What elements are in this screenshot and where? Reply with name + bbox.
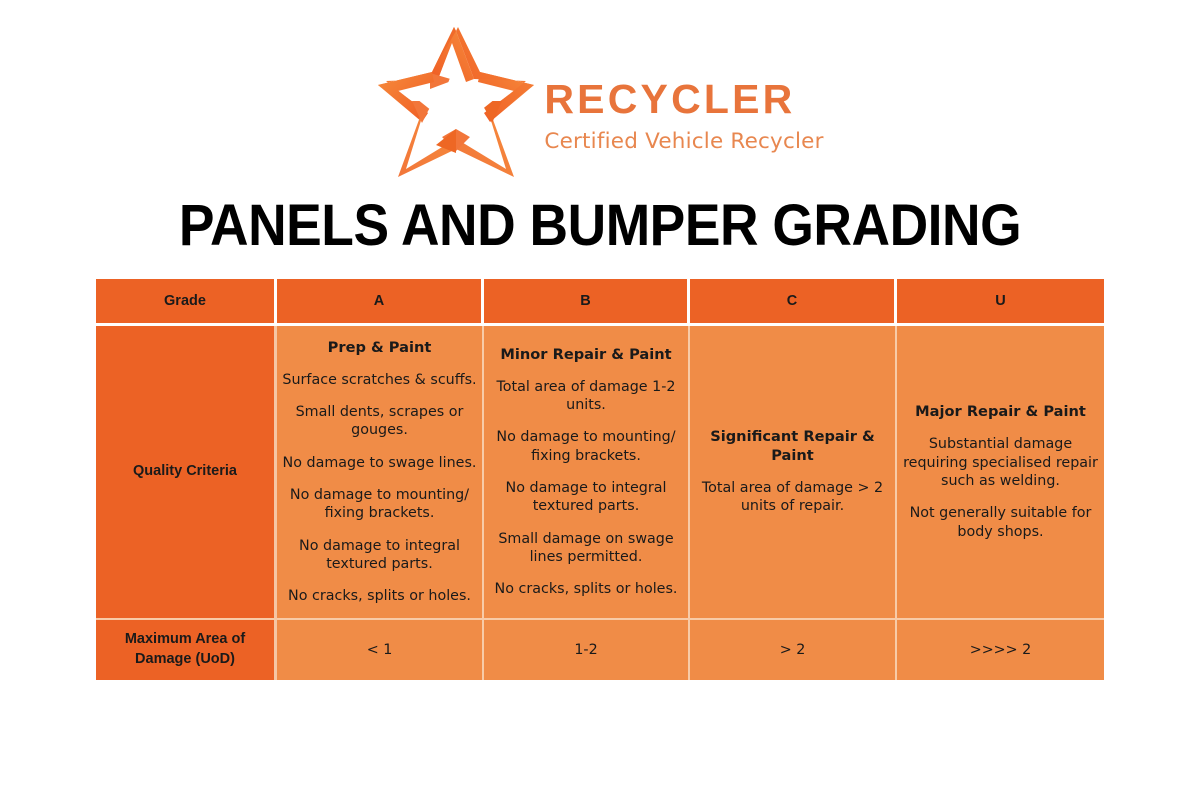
cell-heading: Prep & Paint [277,339,482,357]
row-label-maximum-area: Maximum Area of Damage (UoD) [96,620,277,680]
cell-line: Small dents, scrapes or gouges. [277,403,482,440]
header-cell-u: U [897,279,1104,326]
table-header-row: Grade A B C U [96,279,1104,326]
row-label-quality-criteria: Quality Criteria [96,326,277,620]
header-cell-a: A [277,279,484,326]
logo-inner: RECYCLER Certified Vehicle Recycler [376,25,823,180]
cell-heading: Major Repair & Paint [897,403,1104,421]
header-cell-c: C [690,279,897,326]
cell-quality-criteria-c: Significant Repair & Paint Total area of… [690,326,897,620]
header-cell-b: B [484,279,690,326]
cell-line: Total area of damage > 2 units of repair… [690,479,895,516]
cell-line: No damage to mounting/ fixing brackets. [484,428,688,465]
header-cell-grade: Grade [96,279,277,326]
cell-quality-criteria-a: Prep & Paint Surface scratches & scuffs.… [277,326,484,620]
logo-wordmark: RECYCLER Certified Vehicle Recycler [544,51,823,154]
table-row-maximum-area: Maximum Area of Damage (UoD) < 1 1-2 > 2… [96,620,1104,680]
cell-line: Small damage on swage lines permitted. [484,530,688,567]
cell-line: No damage to mounting/ fixing brackets. [277,486,482,523]
cell-line: No cracks, splits or holes. [277,587,482,605]
brand-tagline: Certified Vehicle Recycler [544,129,823,154]
cell-line: No damage to integral textured parts. [484,479,688,516]
brand-logo: RECYCLER Certified Vehicle Recycler [0,22,1200,182]
recycling-star-logo-icon [376,25,536,180]
cell-max-area-u: >>>> 2 [897,620,1104,680]
cell-line: No damage to integral textured parts. [277,537,482,574]
cell-quality-criteria-b: Minor Repair & Paint Total area of damag… [484,326,690,620]
panels-bumper-grading-table: Grade A B C U Quality Criteria Prep & Pa… [96,279,1104,680]
cell-line: No damage to swage lines. [277,454,482,472]
page-title: PANELS AND BUMPER GRADING [48,192,1152,259]
brand-name: RECYCLER [544,79,823,120]
cell-line: Not generally suitable for body shops. [897,504,1104,541]
table-row-quality-criteria: Quality Criteria Prep & Paint Surface sc… [96,326,1104,620]
cell-max-area-b: 1-2 [484,620,690,680]
cell-line: No cracks, splits or holes. [484,580,688,598]
cell-line: Surface scratches & scuffs. [277,371,482,389]
cell-heading: Significant Repair & Paint [690,428,895,464]
cell-max-area-c: > 2 [690,620,897,680]
cell-quality-criteria-u: Major Repair & Paint Substantial damage … [897,326,1104,620]
cell-max-area-a: < 1 [277,620,484,680]
cell-heading: Minor Repair & Paint [484,346,688,364]
cell-line: Total area of damage 1-2 units. [484,378,688,415]
cell-line: Substantial damage requiring specialised… [897,435,1104,490]
